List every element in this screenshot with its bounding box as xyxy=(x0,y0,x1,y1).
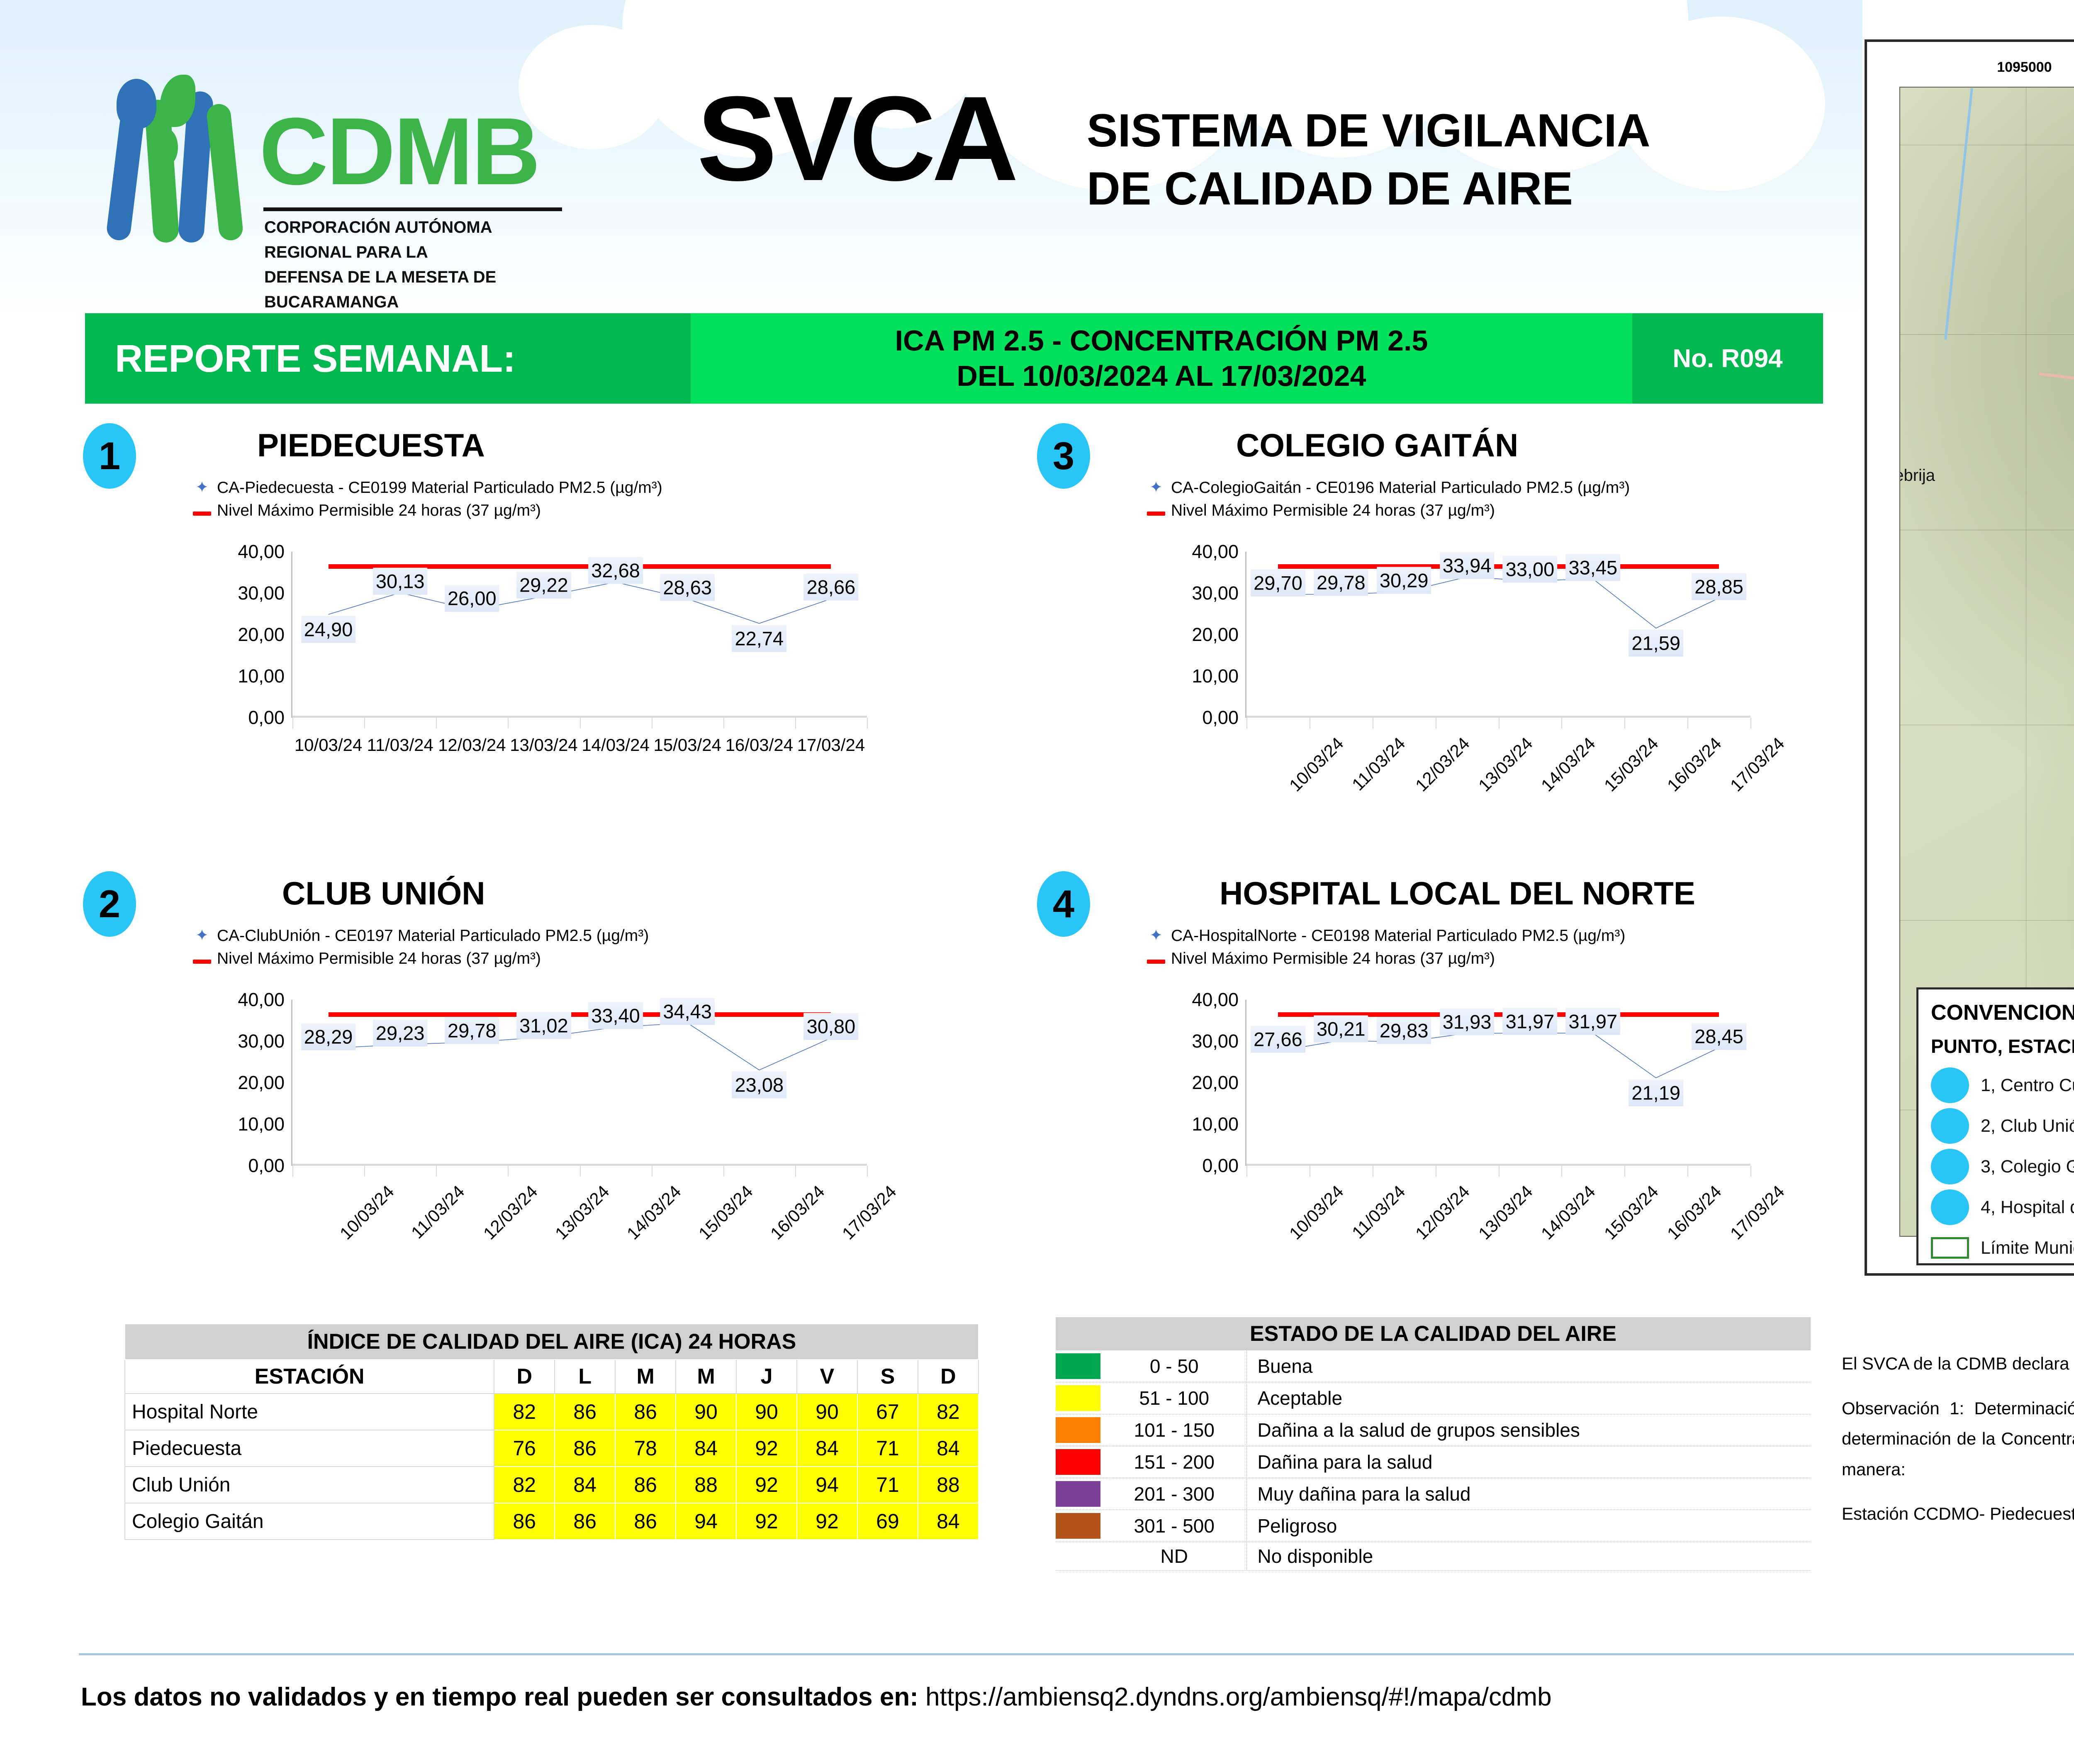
footer-text: Los datos no validados y en tiempo real … xyxy=(81,1682,2074,1712)
estado-range: 301 - 500 xyxy=(1110,1510,1246,1542)
list-item: 201 - 300Muy dañina para la salud xyxy=(1056,1478,1811,1510)
data-label: 31,93 xyxy=(1440,1008,1495,1035)
estado-range: 151 - 200 xyxy=(1110,1446,1246,1478)
y-tick-label: 30,00 xyxy=(1192,582,1239,604)
x-tick xyxy=(292,1166,293,1177)
x-tick-label: 13/03/24 xyxy=(551,1182,613,1244)
map-legend-items: 1, Centro Cultural Daniel Mantilla Orbeg… xyxy=(1931,1065,2074,1228)
series-marker-icon: ✦ xyxy=(1147,925,1165,947)
data-label: 32,68 xyxy=(588,557,643,584)
ica-value-cell: 88 xyxy=(676,1467,736,1503)
ica-value-cell: 86 xyxy=(555,1503,615,1540)
station-marker-icon xyxy=(1931,1108,1969,1144)
data-label: 21,59 xyxy=(1629,630,1683,657)
y-tick-label: 20,00 xyxy=(1192,624,1239,646)
legend-series-label: CA-ColegioGaitán - CE0196 Material Parti… xyxy=(1171,476,1630,499)
ica-value-cell: 76 xyxy=(494,1430,555,1467)
chart-plot-1: 0,0010,0020,0030,0040,0024,9030,1326,002… xyxy=(220,552,867,718)
map-legend-item-label: 1, Centro Cultural Daniel Mantilla Orbeg… xyxy=(1981,1075,2074,1096)
series-marker-icon: ✦ xyxy=(193,477,211,499)
legend-series-label: CA-ClubUnión - CE0197 Material Particula… xyxy=(217,924,649,947)
x-tick xyxy=(580,718,581,729)
ica-table-title: ÍNDICE DE CALIDAD DEL AIRE (ICA) 24 HORA… xyxy=(125,1324,979,1360)
ica-station-name: Hospital Norte xyxy=(125,1394,494,1430)
x-tick-label: 14/03/24 xyxy=(623,1182,685,1244)
estado-range: 51 - 100 xyxy=(1110,1382,1246,1414)
x-tick-label: 17/03/24 xyxy=(1726,733,1789,796)
x-tick xyxy=(292,718,293,729)
ica-value-cell: 84 xyxy=(555,1467,615,1503)
table-row: Colegio Gaitán8686869492926984 xyxy=(125,1503,979,1540)
y-tick-label: 40,00 xyxy=(238,989,285,1011)
x-tick-label: 11/03/24 xyxy=(407,1182,468,1243)
chart-panel-4: 4HOSPITAL LOCAL DEL NORTE ✦ CA-HospitalN… xyxy=(1037,871,1867,1269)
y-tick-label: 20,00 xyxy=(1192,1072,1239,1094)
ica-value-cell: 69 xyxy=(857,1503,918,1540)
ica-value-cell: 71 xyxy=(857,1430,918,1467)
x-tick xyxy=(723,718,724,729)
legend-limit-label: Nivel Máximo Permisible 24 horas (37 µg/… xyxy=(1171,947,1495,970)
station-marker-icon xyxy=(1931,1189,1969,1225)
ica-value-cell: 88 xyxy=(918,1467,979,1503)
series-marker-icon: ✦ xyxy=(1147,477,1165,499)
x-tick xyxy=(1624,1166,1625,1177)
data-label: 29,22 xyxy=(516,571,571,598)
chart-title-3: COLEGIO GAITÁN xyxy=(1236,426,1518,464)
ica-header-day: M xyxy=(615,1360,676,1394)
data-label: 29,78 xyxy=(1314,569,1368,596)
ica-value-cell: 92 xyxy=(736,1467,797,1503)
estado-range: ND xyxy=(1110,1542,1246,1571)
x-tick xyxy=(1499,718,1500,729)
banner-label-block: REPORTE SEMANAL: xyxy=(85,313,691,404)
ica-value-cell: 86 xyxy=(555,1430,615,1467)
table-row: Club Unión8284868892947188 xyxy=(125,1467,979,1503)
x-tick xyxy=(1373,718,1373,729)
ica-value-cell: 92 xyxy=(736,1503,797,1540)
data-label: 27,66 xyxy=(1251,1026,1305,1053)
y-tick-label: 10,00 xyxy=(1192,665,1239,687)
ica-value-cell: 92 xyxy=(736,1430,797,1467)
y-tick-label: 30,00 xyxy=(1192,1031,1239,1052)
data-label: 28,63 xyxy=(660,574,715,601)
svca-title-line1: SISTEMA DE VIGILANCIA xyxy=(1087,102,1650,160)
data-label: 33,45 xyxy=(1566,554,1621,581)
ica-header-day: S xyxy=(857,1360,918,1394)
x-tick xyxy=(867,1166,868,1177)
legend-series-row: ✦ CA-HospitalNorte - CE0198 Material Par… xyxy=(1147,924,1625,947)
x-tick-label: 17/03/24 xyxy=(838,1182,901,1244)
x-tick xyxy=(1687,718,1688,729)
y-tick-label: 40,00 xyxy=(1192,541,1239,563)
y-tick-label: 10,00 xyxy=(238,665,285,687)
x-tick-label: 17/03/24 xyxy=(797,735,865,755)
logo-divider xyxy=(263,207,562,211)
x-tick xyxy=(652,1166,652,1177)
x-tick-label: 10/03/24 xyxy=(295,735,363,755)
data-label: 30,29 xyxy=(1377,567,1431,594)
logo-wordmark: CDMB xyxy=(259,104,539,199)
ica-table-grid: ÍNDICE DE CALIDAD DEL AIRE (ICA) 24 HORA… xyxy=(124,1323,979,1540)
chart-legend-4: ✦ CA-HospitalNorte - CE0198 Material Par… xyxy=(1147,924,1625,970)
banner-title-line2: DEL 10/03/2024 AL 17/03/2024 xyxy=(957,358,1366,394)
legend-limit-row: Nivel Máximo Permisible 24 horas (37 µg/… xyxy=(1147,947,1625,970)
estado-description: Buena xyxy=(1246,1350,1811,1382)
banner-title-block: ICA PM 2.5 - CONCENTRACIÓN PM 2.5 DEL 10… xyxy=(691,313,1632,404)
x-tick xyxy=(1750,1166,1751,1177)
legend-series-row: ✦ CA-ClubUnión - CE0197 Material Particu… xyxy=(193,924,649,947)
y-tick-label: 0,00 xyxy=(1202,707,1239,729)
note-paragraph-1: El SVCA de la CDMB declara que los resul… xyxy=(1842,1348,2074,1379)
map-x-tick-label: 1095000 xyxy=(1997,59,2052,76)
station-marker-icon xyxy=(1931,1067,1969,1103)
table-row: Piedecuesta7686788492847184 xyxy=(125,1430,979,1467)
chart-title-4: HOSPITAL LOCAL DEL NORTE xyxy=(1220,875,1695,912)
limit-line-icon xyxy=(193,947,211,970)
estado-color-swatch xyxy=(1056,1510,1110,1542)
svca-acronym: SVCA xyxy=(697,83,1015,195)
ica-value-cell: 94 xyxy=(676,1503,736,1540)
data-label: 31,97 xyxy=(1566,1008,1621,1035)
x-tick xyxy=(508,718,509,729)
x-tick-label: 15/03/24 xyxy=(653,735,721,755)
x-tick xyxy=(364,718,365,729)
ica-header-day: D xyxy=(918,1360,979,1394)
map-legend-title: CONVENCIONES xyxy=(1931,1000,2074,1025)
list-item: 0 - 50Buena xyxy=(1056,1350,1811,1382)
chart-title-1: PIEDECUESTA xyxy=(257,426,485,464)
chart-panel-1: 1PIEDECUESTA ✦ CA-Piedecuesta - CE0199 M… xyxy=(83,423,987,797)
ica-value-cell: 84 xyxy=(918,1430,979,1467)
chart-panel-3: 3COLEGIO GAITÁN ✦ CA-ColegioGaitán - CE0… xyxy=(1037,423,1867,797)
max-permissible-line xyxy=(329,1012,831,1017)
logo-droplet-blue xyxy=(117,79,156,129)
x-tick-label: 11/03/24 xyxy=(1348,733,1409,794)
estado-color-swatch xyxy=(1056,1542,1110,1571)
ica-value-cell: 82 xyxy=(494,1467,555,1503)
ica-header-row: ESTACIÓNDLMMJVSD xyxy=(125,1360,979,1394)
x-tick-label: 12/03/24 xyxy=(480,1182,542,1244)
x-tick xyxy=(1624,718,1625,729)
data-label: 26,00 xyxy=(445,585,499,612)
cdmb-logo: CDMB CORPORACIÓN AUTÓNOMA REGIONAL PARA … xyxy=(106,71,616,253)
estado-color-swatch xyxy=(1056,1382,1110,1414)
y-axis: 0,0010,0020,0030,0040,00 xyxy=(1174,552,1244,718)
plot-area: 24,9030,1326,0029,2232,6828,6322,7428,66… xyxy=(291,552,867,718)
chart-badge-1: 1 xyxy=(83,423,136,489)
estado-color-swatch xyxy=(1056,1478,1110,1510)
estado-description: Dañina a la salud de grupos sensibles xyxy=(1246,1414,1811,1446)
x-tick-label: 11/03/24 xyxy=(1348,1182,1409,1243)
list-item: 151 - 200Dañina para la salud xyxy=(1056,1446,1811,1478)
data-label: 30,21 xyxy=(1314,1015,1368,1042)
chart-badge-3: 3 xyxy=(1037,423,1090,489)
x-tick-label: 10/03/24 xyxy=(1285,733,1348,796)
plot-area: 28,2929,2329,7831,0233,4034,4323,0830,80… xyxy=(291,1000,867,1166)
x-tick-label: 14/03/24 xyxy=(1537,733,1599,796)
ica-header-station: ESTACIÓN xyxy=(125,1360,494,1394)
y-axis: 0,0010,0020,0030,0040,00 xyxy=(220,1000,290,1166)
x-tick xyxy=(1373,1166,1373,1177)
logo-bar-blue-left xyxy=(105,111,145,242)
ica-header-day: D xyxy=(494,1360,555,1394)
estado-description: Muy dañina para la salud xyxy=(1246,1478,1811,1510)
x-tick-label: 11/03/24 xyxy=(367,735,433,755)
river-line xyxy=(1944,88,1973,339)
note-paragraph-2: Observación 1: Determinación Directa en … xyxy=(1842,1393,2074,1485)
x-tick-label: 16/03/24 xyxy=(1663,1182,1726,1244)
y-axis: 0,0010,0020,0030,0040,00 xyxy=(220,552,290,718)
x-tick xyxy=(1561,718,1562,729)
chart-title-2: CLUB UNIÓN xyxy=(282,875,485,912)
y-tick-label: 40,00 xyxy=(1192,989,1239,1011)
chart-legend-3: ✦ CA-ColegioGaitán - CE0196 Material Par… xyxy=(1147,476,1630,522)
x-tick-label: 10/03/24 xyxy=(1285,1182,1348,1244)
svca-title: SISTEMA DE VIGILANCIA DE CALIDAD DE AIRE xyxy=(1087,102,1650,218)
data-label: 29,78 xyxy=(445,1017,499,1044)
x-tick xyxy=(1436,718,1436,729)
map-legend-item-2: 2, Club Unión - Cabecera xyxy=(1931,1106,2074,1146)
x-tick xyxy=(508,1166,509,1177)
ica-table: ÍNDICE DE CALIDAD DEL AIRE (ICA) 24 HORA… xyxy=(124,1323,979,1540)
legend-limit-row: Nivel Máximo Permisible 24 horas (37 µg/… xyxy=(1147,499,1630,522)
data-label: 31,02 xyxy=(516,1012,571,1039)
data-label: 28,85 xyxy=(1692,573,1746,600)
ica-value-cell: 84 xyxy=(797,1430,857,1467)
banner-report-number-block: No. R094 xyxy=(1632,313,1823,404)
ica-header-day: L xyxy=(555,1360,615,1394)
x-tick-label: 10/03/24 xyxy=(336,1182,398,1244)
map-legend-box: CONVENCIONES PUNTO, ESTACION 1, Centro C… xyxy=(1916,987,2074,1265)
estado-description: Dañina para la salud xyxy=(1246,1446,1811,1478)
x-tick xyxy=(1561,1166,1562,1177)
plot-area: 29,7029,7830,2933,9433,0033,4521,5928,85… xyxy=(1245,552,1750,718)
ica-value-cell: 92 xyxy=(797,1503,857,1540)
x-tick-label: 16/03/24 xyxy=(725,735,794,755)
plot-area: 27,6630,2129,8331,9331,9731,9721,1928,45… xyxy=(1245,1000,1750,1166)
x-tick-label: 12/03/24 xyxy=(438,735,506,755)
chart-plot-3: 0,0010,0020,0030,0040,0029,7029,7830,293… xyxy=(1174,552,1750,718)
list-item: 51 - 100Aceptable xyxy=(1056,1382,1811,1414)
logo-subtitle-line2: DEFENSA DE LA MESETA DE BUCARAMANGA xyxy=(264,265,571,314)
x-tick-label: 17/03/24 xyxy=(1726,1182,1789,1244)
map-legend-item-label: 3, Colegio Gaitán xyxy=(1981,1157,2074,1177)
chart-badge-2: 2 xyxy=(83,871,136,937)
ica-value-cell: 86 xyxy=(615,1503,676,1540)
y-axis: 0,0010,0020,0030,0040,00 xyxy=(1174,1000,1244,1166)
ica-station-name: Piedecuesta xyxy=(125,1430,494,1467)
data-label: 28,66 xyxy=(804,574,859,601)
banner-report-number: No. R094 xyxy=(1672,344,1782,373)
data-label: 30,13 xyxy=(373,568,428,594)
estado-range: 0 - 50 xyxy=(1110,1350,1246,1382)
x-tick xyxy=(436,1166,437,1177)
data-label: 34,43 xyxy=(660,998,715,1025)
list-item: 301 - 500Peligroso xyxy=(1056,1510,1811,1542)
data-label: 29,70 xyxy=(1251,570,1305,597)
x-tick xyxy=(795,718,796,729)
x-tick-label: 13/03/24 xyxy=(510,735,578,755)
x-tick xyxy=(1310,718,1310,729)
x-tick xyxy=(1499,1166,1500,1177)
x-tick xyxy=(1246,1166,1247,1177)
ica-value-cell: 94 xyxy=(797,1467,857,1503)
ica-value-cell: 86 xyxy=(615,1467,676,1503)
x-tick xyxy=(867,718,868,729)
max-permissible-line xyxy=(1278,564,1719,569)
chart-badge-4: 4 xyxy=(1037,871,1090,937)
map-legend-subtitle: PUNTO, ESTACION xyxy=(1931,1035,2074,1057)
logo-subtitle-line1: CORPORACIÓN AUTÓNOMA REGIONAL PARA LA xyxy=(264,215,571,265)
data-label: 33,40 xyxy=(588,1002,643,1029)
footer-url[interactable]: https://ambiensq2.dyndns.org/ambiensq/#!… xyxy=(925,1683,1552,1711)
map-legend-item-1: 1, Centro Cultural Daniel Mantilla Orbeg… xyxy=(1931,1065,2074,1106)
estado-color-swatch xyxy=(1056,1446,1110,1478)
legend-series-label: CA-Piedecuesta - CE0199 Material Particu… xyxy=(217,476,662,499)
x-tick xyxy=(436,718,437,729)
map-legend-item-label: 4, Hospital del Norte xyxy=(1981,1197,2074,1218)
logo-seed-green xyxy=(155,129,178,166)
ica-value-cell: 84 xyxy=(918,1503,979,1540)
estado-color-swatch xyxy=(1056,1414,1110,1446)
data-label: 29,83 xyxy=(1377,1017,1431,1044)
y-tick-label: 0,00 xyxy=(248,707,285,729)
station-marker-icon xyxy=(1931,1149,1969,1184)
ica-value-cell: 71 xyxy=(857,1467,918,1503)
map-legend-boundary-label: Límite Municipal xyxy=(1981,1238,2074,1258)
ica-station-name: Club Unión xyxy=(125,1467,494,1503)
declaration-notes: El SVCA de la CDMB declara que los resul… xyxy=(1842,1348,2074,1543)
note-paragraph-3: Estación CCDMO- Piedecuesta: 1.076; Esta… xyxy=(1842,1498,2074,1529)
x-tick xyxy=(1246,718,1247,729)
estado-range: 201 - 300 xyxy=(1110,1478,1246,1510)
footer-divider xyxy=(79,1653,2074,1655)
limit-line-icon xyxy=(1147,499,1165,522)
x-tick xyxy=(1687,1166,1688,1177)
data-label: 33,00 xyxy=(1503,556,1558,583)
data-label: 31,97 xyxy=(1503,1008,1558,1035)
ica-value-cell: 86 xyxy=(494,1503,555,1540)
data-label: 22,74 xyxy=(732,625,787,652)
chart-panel-2: 2CLUB UNIÓN ✦ CA-ClubUnión - CE0197 Mate… xyxy=(83,871,987,1269)
x-tick xyxy=(1310,1166,1310,1177)
banner-label: REPORTE SEMANAL: xyxy=(115,336,516,381)
data-label: 30,80 xyxy=(804,1013,859,1040)
chart-plot-2: 0,0010,0020,0030,0040,0028,2929,2329,783… xyxy=(220,1000,867,1166)
x-tick-label: 12/03/24 xyxy=(1412,1182,1474,1244)
x-tick xyxy=(364,1166,365,1177)
legend-limit-label: Nivel Máximo Permisible 24 horas (37 µg/… xyxy=(217,499,541,522)
estado-description: Aceptable xyxy=(1246,1382,1811,1414)
x-tick xyxy=(795,1166,796,1177)
map-legend-item-label: 2, Club Unión - Cabecera xyxy=(1981,1116,2074,1136)
logo-subtitle: CORPORACIÓN AUTÓNOMA REGIONAL PARA LA DE… xyxy=(264,215,571,314)
list-item: 101 - 150Dañina a la salud de grupos sen… xyxy=(1056,1414,1811,1446)
table-row: Hospital Norte8286869090906782 xyxy=(125,1394,979,1430)
municipal-boundary-icon xyxy=(1931,1237,1969,1259)
legend-limit-row: Nivel Máximo Permisible 24 horas (37 µg/… xyxy=(193,499,662,522)
estado-color-swatch xyxy=(1056,1350,1110,1382)
x-tick xyxy=(652,718,652,729)
data-label: 29,23 xyxy=(373,1019,428,1046)
ica-header-day: M xyxy=(676,1360,736,1394)
map-legend-item-3: 3, Colegio Gaitán xyxy=(1931,1146,2074,1187)
ica-value-cell: 90 xyxy=(676,1394,736,1430)
ica-header-day: V xyxy=(797,1360,857,1394)
data-label: 28,45 xyxy=(1692,1023,1746,1050)
y-tick-label: 20,00 xyxy=(238,624,285,646)
x-tick-label: 16/03/24 xyxy=(1663,733,1726,796)
x-tick xyxy=(1750,718,1751,729)
estado-description: Peligroso xyxy=(1246,1510,1811,1542)
x-tick xyxy=(723,1166,724,1177)
svca-title-line2: DE CALIDAD DE AIRE xyxy=(1087,160,1650,218)
data-label: 24,90 xyxy=(301,616,356,643)
x-tick-label: 13/03/24 xyxy=(1474,733,1536,796)
x-tick xyxy=(580,1166,581,1177)
ica-value-cell: 82 xyxy=(918,1394,979,1430)
data-label: 33,94 xyxy=(1440,552,1495,579)
ica-value-cell: 90 xyxy=(797,1394,857,1430)
y-tick-label: 40,00 xyxy=(238,541,285,563)
x-tick-label: 14/03/24 xyxy=(582,735,650,755)
estado-description: No disponible xyxy=(1246,1542,1811,1571)
y-tick-label: 30,00 xyxy=(238,582,285,604)
ica-value-cell: 86 xyxy=(555,1394,615,1430)
series-marker-icon: ✦ xyxy=(193,925,211,947)
map-legend-item-4: 4, Hospital del Norte xyxy=(1931,1187,2074,1228)
ica-value-cell: 90 xyxy=(736,1394,797,1430)
logo-bar-green-right xyxy=(206,103,244,241)
x-tick-label: 15/03/24 xyxy=(1600,733,1663,796)
estado-title: ESTADO DE LA CALIDAD DEL AIRE xyxy=(1056,1317,1811,1350)
y-tick-label: 20,00 xyxy=(238,1072,285,1094)
data-label: 21,19 xyxy=(1629,1079,1683,1106)
y-tick-label: 10,00 xyxy=(1192,1113,1239,1135)
x-tick-label: 14/03/24 xyxy=(1537,1182,1599,1244)
city-label-lebrija: ebrija xyxy=(1899,466,1935,485)
y-tick-label: 0,00 xyxy=(1202,1155,1239,1177)
x-tick-label: 15/03/24 xyxy=(695,1182,757,1244)
chart-legend-1: ✦ CA-Piedecuesta - CE0199 Material Parti… xyxy=(193,476,662,522)
data-label: 28,29 xyxy=(301,1023,356,1050)
legend-series-label: CA-HospitalNorte - CE0198 Material Parti… xyxy=(1171,924,1625,947)
ica-value-cell: 84 xyxy=(676,1430,736,1467)
y-tick-label: 10,00 xyxy=(238,1113,285,1135)
list-item: NDNo disponible xyxy=(1056,1542,1811,1571)
x-tick-label: 13/03/24 xyxy=(1474,1182,1536,1244)
chart-plot-4: 0,0010,0020,0030,0040,0027,6630,2129,833… xyxy=(1174,1000,1750,1166)
y-tick-label: 30,00 xyxy=(238,1031,285,1052)
legend-limit-label: Nivel Máximo Permisible 24 horas (37 µg/… xyxy=(217,947,541,970)
ica-header-day: J xyxy=(736,1360,797,1394)
x-tick-label: 16/03/24 xyxy=(767,1182,829,1244)
data-label: 23,08 xyxy=(732,1072,787,1099)
ica-value-cell: 67 xyxy=(857,1394,918,1430)
limit-line-icon xyxy=(1147,947,1165,970)
ica-value-cell: 82 xyxy=(494,1394,555,1430)
legend-series-row: ✦ CA-ColegioGaitán - CE0196 Material Par… xyxy=(1147,476,1630,499)
cdmb-logo-mark xyxy=(106,75,263,241)
road-line xyxy=(2039,373,2074,426)
y-tick-label: 0,00 xyxy=(248,1155,285,1177)
x-tick-label: 12/03/24 xyxy=(1412,733,1474,796)
ica-station-name: Colegio Gaitán xyxy=(125,1503,494,1540)
ica-value-cell: 78 xyxy=(615,1430,676,1467)
legend-limit-label: Nivel Máximo Permisible 24 horas (37 µg/… xyxy=(1171,499,1495,522)
x-tick-label: 15/03/24 xyxy=(1600,1182,1663,1244)
estado-grid: 0 - 50Buena51 - 100Aceptable101 - 150Dañ… xyxy=(1056,1350,1811,1571)
